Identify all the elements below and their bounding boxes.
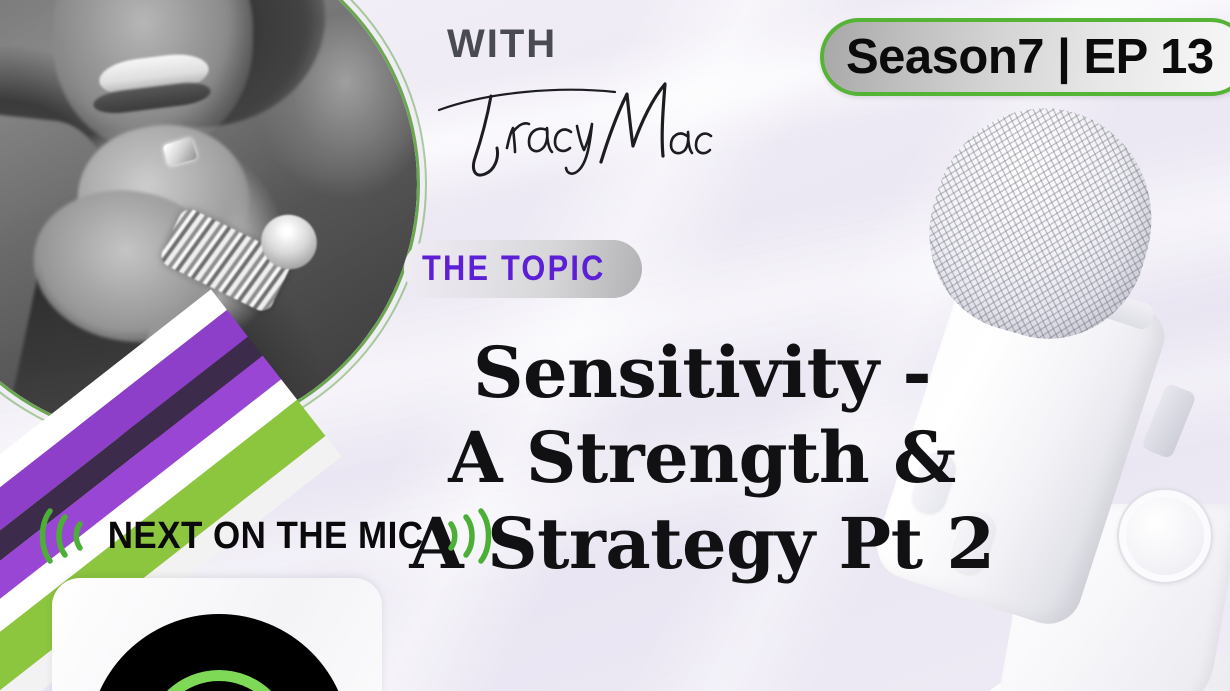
- with-label: WITH: [447, 24, 707, 64]
- podcast-disc-logo: [52, 578, 382, 691]
- sound-wave-right-icon: [441, 504, 493, 568]
- signature-icon: [429, 66, 719, 186]
- next-on-the-mic-label: NEXT ON THE MIC: [108, 515, 424, 558]
- topic-pill: THE TOPIC: [404, 240, 642, 298]
- episode-badge-label: Season7 | EP 13: [846, 29, 1214, 85]
- microphone-side-clip: [1141, 383, 1197, 460]
- next-on-the-mic-badge: NEXT ON THE MIC: [38, 498, 388, 574]
- host-portrait-circle: [0, 0, 420, 442]
- microphone-volume-knob: [1117, 488, 1213, 584]
- episode-title-line-1: Sensitivity -: [392, 330, 1012, 415]
- host-portrait-photo: [0, 0, 417, 439]
- episode-badge: Season7 | EP 13: [820, 18, 1230, 96]
- podcast-thumbnail-canvas: WITH: [0, 0, 1230, 691]
- episode-title-line-2: A Strength &: [392, 415, 1012, 500]
- host-signature: [429, 66, 719, 186]
- sound-wave-left-icon: [38, 504, 90, 568]
- host-credit-block: WITH: [447, 24, 707, 64]
- topic-pill-label: THE TOPIC: [422, 249, 606, 289]
